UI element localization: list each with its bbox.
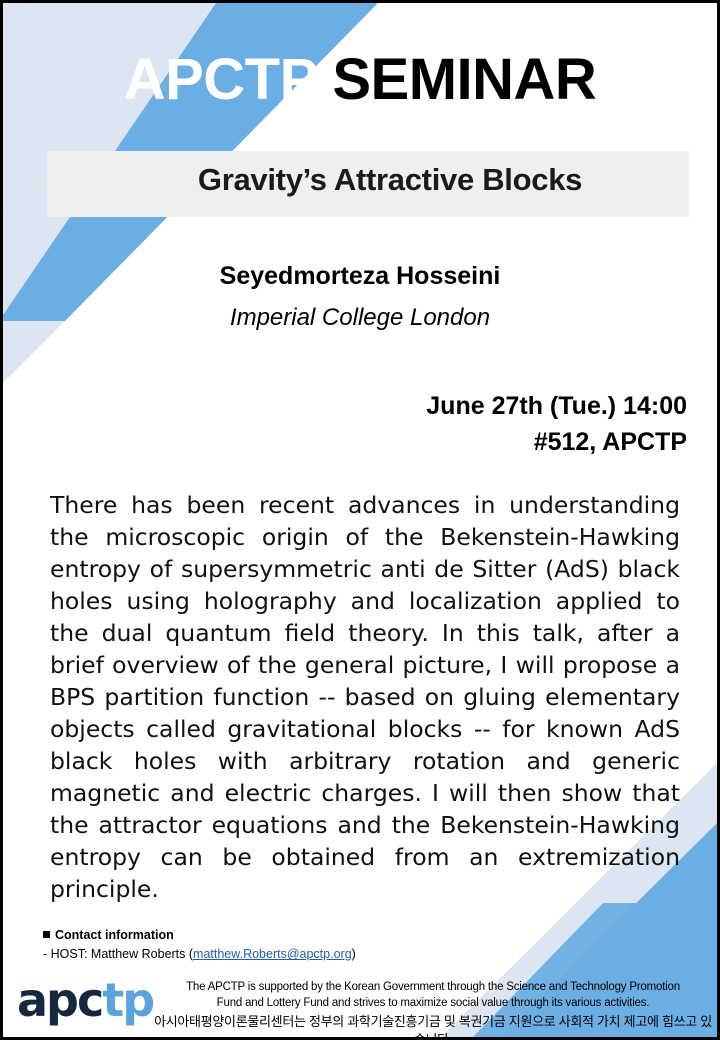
seminar-heading-word: SEMINAR	[317, 47, 597, 112]
poster-footer: apctp The APCTP is supported by the Kore…	[3, 965, 717, 1037]
square-bullet-icon	[43, 931, 50, 938]
seminar-datetime: June 27th (Tue.) 14:00	[426, 388, 687, 424]
apctp-logo-tp: tp	[102, 973, 153, 1027]
footer-support-text: The APCTP is supported by the Korean Gov…	[153, 979, 713, 1040]
speaker-affiliation: Imperial College London	[3, 302, 717, 333]
apctp-logo-apc: apc	[17, 973, 102, 1027]
contact-heading: Contact information	[43, 927, 356, 943]
footer-english-line-2: Fund and Lottery Fund and strives to max…	[153, 995, 713, 1011]
contact-host-prefix: - HOST: Matthew Roberts (	[43, 947, 193, 961]
talk-title-banner: Gravity’s Attractive Blocks	[47, 151, 689, 217]
contact-block: Contact information - HOST: Matthew Robe…	[43, 927, 356, 963]
contact-host-line: - HOST: Matthew Roberts (matthew.Roberts…	[43, 945, 356, 963]
footer-korean-line: 아시아태평양이론물리센터는 정부의 과학기술진흥기금 및 복권기금 지원으로 사…	[153, 1013, 713, 1040]
host-email-link[interactable]: matthew.Roberts@apctp.org	[193, 947, 352, 961]
apctp-logo: apctp	[17, 977, 153, 1023]
contact-host-suffix: )	[352, 947, 356, 961]
seminar-venue: #512, APCTP	[426, 424, 687, 460]
footer-english-line-1: The APCTP is supported by the Korean Gov…	[153, 979, 713, 995]
contact-heading-label: Contact information	[55, 928, 174, 942]
when-where-block: June 27th (Tue.) 14:00 #512, APCTP	[426, 388, 687, 461]
seminar-poster: APCTP SEMINAR Gravity’s Attractive Block…	[0, 0, 720, 1040]
abstract-text: There has been recent advances in unders…	[50, 489, 680, 905]
seminar-heading-brand: APCTP	[124, 47, 317, 112]
speaker-name: Seyedmorteza Hosseini	[3, 261, 717, 292]
speaker-block: Seyedmorteza Hosseini Imperial College L…	[3, 261, 717, 333]
talk-title: Gravity’s Attractive Blocks	[47, 162, 689, 198]
seminar-heading: APCTP SEMINAR	[3, 51, 717, 109]
poster-header: APCTP SEMINAR	[3, 3, 717, 153]
